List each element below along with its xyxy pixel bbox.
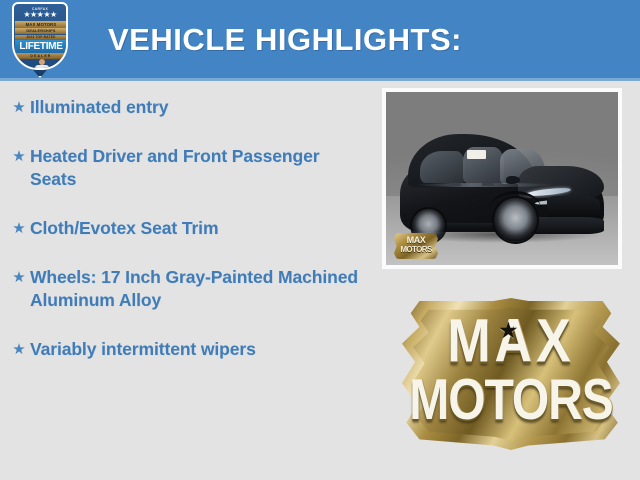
badge-line-max-motors: MAX MOTORS <box>15 21 67 28</box>
star-bullet-icon: ★ <box>8 145 30 168</box>
star-bullet-icon: ★ <box>8 96 30 119</box>
page-title: VEHICLE HIGHLIGHTS: <box>108 22 462 58</box>
list-item: ★ Variably intermittent wipers <box>8 338 370 361</box>
list-item-label: Illuminated entry <box>30 96 370 119</box>
list-item-label: Heated Driver and Front Passenger Seats <box>30 145 370 191</box>
badge-person-icon <box>35 59 49 70</box>
badge-shield-shape: CARFAX ★★★★★ MAX MOTORS DEALERSHIPS 2023… <box>12 2 68 70</box>
logo-motors-text: MOTORS <box>400 370 622 427</box>
badge-line-dealerships: DEALERSHIPS <box>15 28 67 34</box>
header-underline <box>0 78 640 81</box>
watermark-motors-text: MOTORS <box>394 245 438 254</box>
max-motors-logo: MAX ★ MOTORS <box>402 298 620 450</box>
photo-watermark-logo: MAX MOTORS <box>394 233 438 259</box>
star-bullet-icon: ★ <box>8 266 30 289</box>
vehicle-photo-canvas: MAX MOTORS <box>386 92 618 265</box>
list-item-label: Cloth/Evotex Seat Trim <box>30 217 370 240</box>
header-bar: CARFAX ★★★★★ MAX MOTORS DEALERSHIPS 2023… <box>0 0 640 78</box>
vehicle-highlights-list: ★ Illuminated entry ★ Heated Driver and … <box>8 96 370 387</box>
logo-star-icon: ★ <box>498 319 519 342</box>
list-item-label: Wheels: 17 Inch Gray-Painted Machined Al… <box>30 266 370 312</box>
watermark-max-text: MAX <box>394 236 438 245</box>
vehicle-photo: MAX MOTORS <box>382 88 622 269</box>
suv-illustration <box>400 134 604 241</box>
list-item: ★ Cloth/Evotex Seat Trim <box>8 217 370 240</box>
badge-lifetime-label: LIFETIME <box>15 40 67 53</box>
list-item: ★ Wheels: 17 Inch Gray-Painted Machined … <box>8 266 370 312</box>
star-bullet-icon: ★ <box>8 217 30 240</box>
carfax-lifetime-dealer-badge: CARFAX ★★★★★ MAX MOTORS DEALERSHIPS 2023… <box>12 2 68 78</box>
badge-stars-icon: ★★★★★ <box>14 11 66 19</box>
list-item-label: Variably intermittent wipers <box>30 338 370 361</box>
list-item: ★ Illuminated entry <box>8 96 370 119</box>
slide-root: CARFAX ★★★★★ MAX MOTORS DEALERSHIPS 2023… <box>0 0 640 480</box>
list-item: ★ Heated Driver and Front Passenger Seat… <box>8 145 370 191</box>
star-bullet-icon: ★ <box>8 338 30 361</box>
